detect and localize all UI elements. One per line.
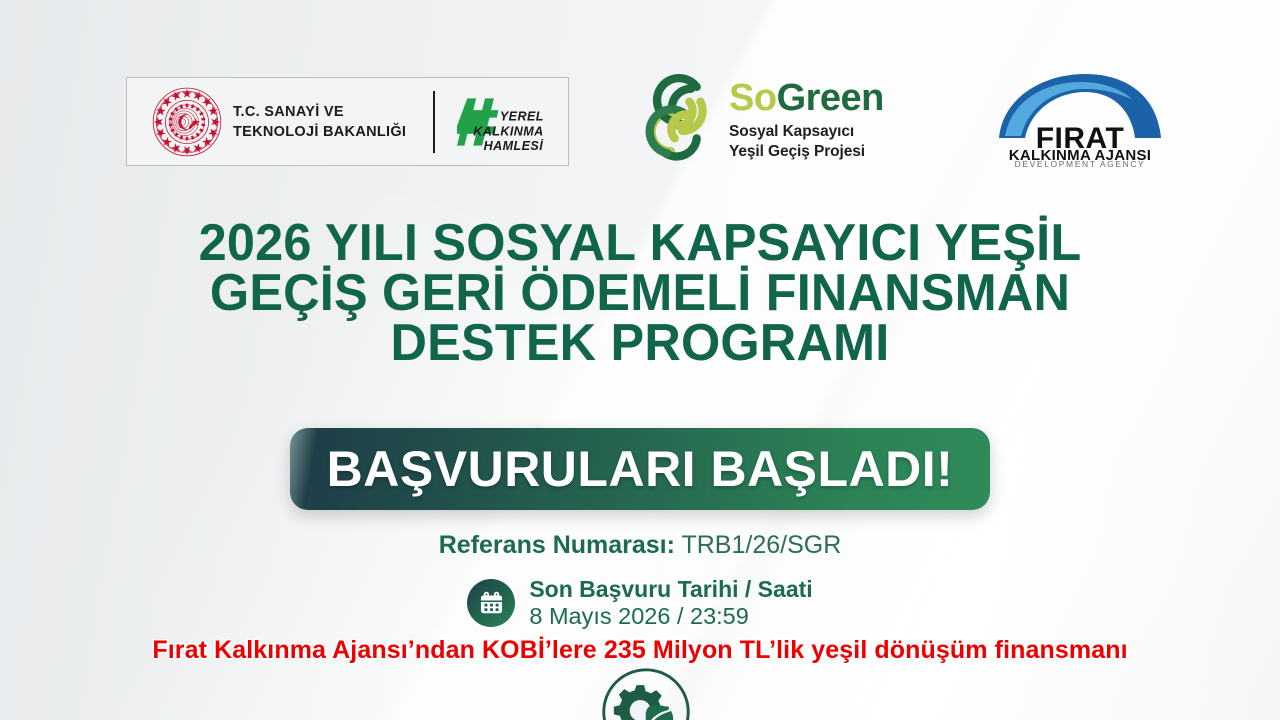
deadline-title: Son Başvuru Tarihi / Saati [529,576,812,602]
sogreen-subtitle: Sosyal Kapsayıcı Yeşil Geçiş Projesi [729,122,884,162]
ministry-logo-box: T.C. SANAYİ VE TEKNOLOJİ BAKANLIĞI YEREL… [126,77,569,166]
reference-number: Referans Numarası: TRB1/26/SGR [0,528,1280,562]
calendar-glyph-icon [478,590,505,617]
reference-number-label: Referans Numarası: [439,531,675,559]
sogreen-logo: SoGreen Sosyal Kapsayıcı Yeşil Geçiş Pro… [643,74,884,166]
sogreen-title-so: So [729,77,777,119]
svg-text:KALKINMA: KALKINMA [473,124,543,138]
svg-text:HAMLESİ: HAMLESİ [484,138,545,153]
deadline-inner: Son Başvuru Tarihi / Saati 8 Mayıs 2026 … [467,576,812,630]
poster-canvas: T.C. SANAYİ VE TEKNOLOJİ BAKANLIĞI YEREL… [0,0,1280,720]
yerel-kalkinma-hamlesi-logo-icon: YEREL KALKINMA HAMLESİ [457,86,553,158]
svg-text:DEVELOPMENT AGENCY: DEVELOPMENT AGENCY [1015,159,1146,167]
sogreen-wordmark: SoGreen Sosyal Kapsayıcı Yeşil Geçiş Pro… [729,79,884,162]
news-ticker: Fırat Kalkınma Ajansı’ndan KOBİ’lere 235… [0,636,1280,664]
firat-development-agency-logo-icon: FIRAT KALKINMA AJANSI DEVELOPMENT AGENCY [985,72,1175,167]
ministry-name: T.C. SANAYİ VE TEKNOLOJİ BAKANLIĞI [233,102,406,142]
tc-ministry-seal-icon [151,86,223,158]
page-title-line-2: GEÇİŞ GERİ ÖDEMELİ FINANSMAN [19,268,1261,318]
calendar-icon [467,579,515,627]
reference-number-value: TRB1/26/SGR [681,531,841,559]
svg-text:YEREL: YEREL [500,110,544,124]
sogreen-title-green: Green [777,77,884,119]
sogreen-monogram-icon [643,74,721,166]
page-title: 2026 YILI SOSYAL KAPSAYICI YEŞİL GEÇİŞ G… [19,218,1261,368]
ministry-divider [433,91,435,153]
gear-leaf-icon [598,664,694,720]
applications-open-banner[interactable]: BAŞVURULARI BAŞLADI! [290,428,990,510]
sogreen-title: SoGreen [729,79,884,117]
applications-open-label: BAŞVURULARI BAŞLADI! [327,444,954,494]
deadline-text: Son Başvuru Tarihi / Saati 8 Mayıs 2026 … [529,576,812,630]
deadline-value: 8 Mayıs 2026 / 23:59 [529,603,812,630]
page-title-line-1: 2026 YILI SOSYAL KAPSAYICI YEŞİL [19,218,1261,268]
page-title-line-3: DESTEK PROGRAMI [19,318,1261,368]
logo-strip: T.C. SANAYİ VE TEKNOLOJİ BAKANLIĞI YEREL… [0,62,1280,182]
news-ticker-text: Fırat Kalkınma Ajansı’ndan KOBİ’lere 235… [152,636,1127,664]
deadline-block: Son Başvuru Tarihi / Saati 8 Mayıs 2026 … [0,576,1280,630]
